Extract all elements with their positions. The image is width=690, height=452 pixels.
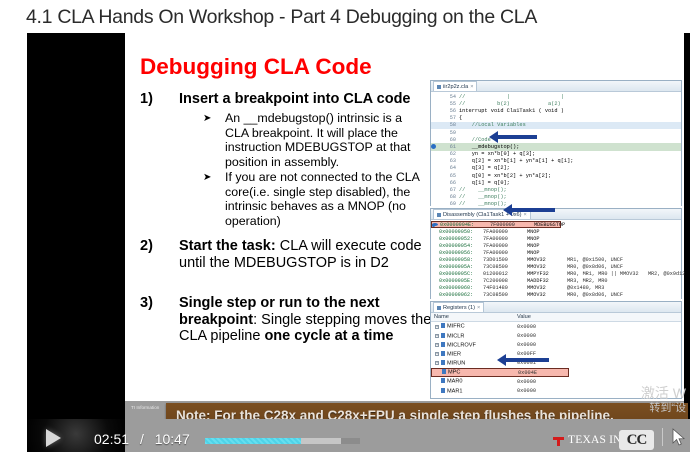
disassembly-opcode: 7FA00000 — [483, 236, 527, 242]
disassembly-tabbar: Disassembly (Cla1Task1 + 0x6)× — [431, 209, 681, 220]
disassembly-mnemonic: MNOP — [527, 250, 567, 256]
video-player-page: 4.1 CLA Hands On Workshop - Part 4 Debug… — [0, 0, 690, 452]
line-number: 64 — [439, 165, 459, 171]
disassembly-opcode: 73C08500 — [483, 292, 527, 298]
disassembly-opcode: 73C08500 — [483, 264, 527, 270]
disassembly-opcode: 7FA00000 — [483, 229, 527, 235]
register-icon — [441, 351, 445, 356]
disassembly-row[interactable]: 0x00009054:7FA00000MNOP — [431, 242, 681, 249]
editor-tab-label: iir2p2z.cla — [443, 84, 468, 90]
code-line[interactable]: 63 q[2] = xn*b[1] + yn*a[1] + q[1]; — [431, 158, 681, 165]
disassembly-mnemonic: MMPYF32 — [527, 271, 567, 277]
code-line[interactable]: 60 //Code — [431, 136, 681, 143]
code-line[interactable]: 57{ — [431, 115, 681, 122]
code-line[interactable]: 65 q[0] = xn*b[2] + yn*a[2]; — [431, 172, 681, 179]
register-name: MAR1 — [447, 388, 463, 394]
presentation-slide: Debugging CLA Code 1) Insert a breakpoin… — [125, 33, 684, 419]
disassembly-args: MR1, @0x1500, UNCF — [567, 257, 623, 263]
register-value[interactable]: 0x0000 — [517, 388, 571, 394]
disassembly-rows[interactable]: 0x0000904E:7F000000MDEBUGSTOP0x00009050:… — [431, 220, 681, 299]
disassembly-address: 0x00009050: — [431, 229, 483, 235]
watermark-line-1: 激活 W — [641, 385, 686, 401]
progress-played — [205, 438, 301, 444]
line-number: 61 — [439, 144, 459, 150]
line-number: 58 — [439, 122, 459, 128]
code-line[interactable]: 69// __mnop(); — [431, 201, 681, 208]
register-icon — [442, 369, 446, 374]
disassembly-row[interactable]: 0x0000905E:7C200008MADDF32MR3, MR2, MR0 — [431, 277, 681, 284]
register-value[interactable]: 0x0000 — [517, 333, 571, 339]
letterbox-left — [27, 33, 125, 419]
line-number: 54 — [439, 94, 459, 100]
disassembly-row[interactable]: 0x00009058:73D01500MMOV32MR1, @0x1500, U… — [431, 256, 681, 263]
register-name: MICLR — [447, 333, 464, 339]
time-display: 02:51 / 10:47 — [94, 431, 190, 447]
current-pc-marker-icon — [432, 223, 438, 226]
disassembly-opcode: 7FA00000 — [483, 243, 527, 249]
disassembly-args: MR3, MR2, MR0 — [567, 278, 607, 284]
list-marker-3: 3) — [140, 295, 153, 311]
registers-column-value: Value — [517, 314, 571, 320]
disassembly-mnemonic: MMOV32 — [527, 264, 567, 270]
line-number: 59 — [439, 130, 459, 136]
disassembly-row[interactable]: 0x00009050:7FA00000MNOP — [431, 228, 681, 235]
activation-watermark: 激活 W 转到“设 — [641, 385, 686, 415]
registers-header: Name Value — [431, 313, 681, 322]
register-row[interactable]: +MIER0x00FF — [431, 350, 681, 359]
code-text: //Code — [459, 137, 491, 143]
disassembly-args: @0x1480, MR3 — [567, 285, 604, 291]
disassembly-icon — [437, 213, 441, 217]
disassembly-args: MR0, @0x8d06, UNCF — [567, 292, 623, 298]
line-number: 55 — [439, 101, 459, 107]
code-line[interactable]: 61 __mdebugstop(); — [431, 143, 681, 150]
disassembly-args: MR0, @0x8d06, UNCF — [567, 264, 623, 270]
register-name-cell: MICLROVF — [431, 342, 517, 349]
disassembly-row[interactable]: 0x0000904E:7F000000MDEBUGSTOP — [431, 221, 561, 228]
breakpoint-icon[interactable] — [431, 144, 439, 150]
ti-information-label: TI Information — [131, 405, 159, 410]
disassembly-mnemonic: MDEBUGSTOP — [534, 222, 574, 228]
slide-heading: Debugging CLA Code — [140, 54, 372, 80]
play-button[interactable] — [46, 429, 61, 447]
code-text: q[0] = xn*b[2] + yn*a[2]; — [459, 173, 551, 179]
code-text: // __mnop(); — [459, 187, 507, 193]
line-number: 68 — [439, 194, 459, 200]
current-time: 02:51 — [94, 431, 129, 447]
line-number: 60 — [439, 137, 459, 143]
disassembly-address: 0x00009054: — [431, 243, 483, 249]
disassembly-mnemonic: MMOV32 — [527, 257, 567, 263]
register-name-cell: MAR1 — [431, 388, 517, 395]
register-name-cell: MICLR — [431, 333, 517, 340]
register-name: MIRUN — [447, 361, 465, 367]
code-text: q[3] = q[2]; — [459, 165, 510, 171]
disassembly-row[interactable]: 0x00009060:74F01480MMOV32@0x1480, MR3 — [431, 284, 681, 291]
code-editor-panel[interactable]: iir2p2z.cla× 54// | |55// b(2) a(2)56int… — [430, 80, 682, 206]
disassembly-mnemonic: MNOP — [527, 236, 567, 242]
ti-logo-icon-player — [553, 435, 564, 446]
disassembly-opcode: 01200012 — [483, 271, 527, 277]
disassembly-address: 0x0000905C: — [431, 271, 483, 277]
disassembly-row[interactable]: 0x00009056:7FA00000MNOP — [431, 249, 681, 256]
code-line[interactable]: 58 //Local Variables — [431, 122, 681, 129]
disassembly-row[interactable]: 0x0000905A:73C08500MMOV32MR0, @0x8d06, U… — [431, 263, 681, 270]
register-row[interactable]: +MICLR0x0000 — [431, 331, 681, 340]
close-icon[interactable]: × — [470, 84, 473, 90]
register-name-cell: MPC — [432, 369, 518, 376]
register-icon — [441, 388, 445, 393]
letterbox-outer-left — [0, 33, 27, 419]
code-line[interactable]: 56interrupt void Cla1Task1 ( void ) — [431, 107, 681, 114]
disassembly-address: 0x00009058: — [431, 257, 483, 263]
code-text: interrupt void Cla1Task1 ( void ) — [459, 108, 564, 114]
editor-tab-iir2p2z[interactable]: iir2p2z.cla× — [433, 81, 477, 91]
list-marker-1: 1) — [140, 91, 153, 107]
register-name: MAR0 — [447, 379, 463, 385]
line-number: 69 — [439, 201, 459, 207]
expand-icon[interactable]: + — [435, 361, 439, 365]
disassembly-opcode: 7FA00000 — [483, 250, 527, 256]
register-icon — [441, 323, 445, 328]
registers-tab-label: Registers (1) — [443, 305, 475, 311]
line-number: 62 — [439, 151, 459, 157]
register-name: MIFRC — [447, 324, 465, 330]
sub-bullet-icon-1: ➤ — [203, 113, 211, 124]
register-value[interactable]: 0x004E — [518, 370, 572, 376]
code-lines[interactable]: 54// | |55// b(2) a(2)56interrupt void C… — [431, 92, 681, 210]
sub-bullet-icon-2: ➤ — [203, 172, 211, 183]
editor-tabbar: iir2p2z.cla× — [431, 81, 681, 92]
close-icon[interactable]: × — [477, 305, 480, 311]
disassembly-mnemonic: MMOV32 — [527, 292, 567, 298]
line-number: 66 — [439, 180, 459, 186]
line-number: 63 — [439, 158, 459, 164]
code-line[interactable]: 68// __mnop(); — [431, 194, 681, 201]
code-line[interactable]: 55// b(2) a(2) — [431, 100, 681, 107]
letterbox-right — [684, 33, 690, 419]
line-number: 65 — [439, 173, 459, 179]
sub-item-1-text: An __mdebugstop() intrinsic is a CLA bre… — [225, 111, 421, 169]
register-value[interactable]: 0x0000 — [517, 324, 571, 330]
register-name: MIER — [447, 351, 461, 357]
disassembly-address: 0x00009052: — [431, 236, 483, 242]
code-line[interactable]: 62 yn = xn*b[0] + q[3]; — [431, 151, 681, 158]
video-frame[interactable]: Debugging CLA Code 1) Insert a breakpoin… — [0, 33, 690, 452]
disassembly-address: 0x00009060: — [431, 285, 483, 291]
disassembly-mnemonic: MMOV32 — [527, 285, 567, 291]
list-item-3-text: Single step or run to the next breakpoin… — [179, 295, 441, 345]
register-row[interactable]: +MIRUN0x0001 — [431, 359, 681, 368]
progress-bar[interactable] — [205, 438, 360, 444]
registers-column-name: Name — [431, 314, 517, 320]
code-line[interactable]: 64 q[3] = q[2]; — [431, 165, 681, 172]
disassembly-opcode: 73D01500 — [483, 257, 527, 263]
time-separator: / — [140, 431, 144, 447]
watermark-line-2: 转到“设 — [641, 401, 686, 415]
disassembly-address: 0x00009062: — [431, 292, 483, 298]
code-line[interactable]: 66 q[1] = q[0]; — [431, 179, 681, 186]
sub-item-2-text: If you are not connected to the CLA core… — [225, 170, 421, 228]
disassembly-mnemonic: MNOP — [527, 243, 567, 249]
register-name-cell: MAR0 — [431, 378, 517, 385]
register-value[interactable]: 0x0000 — [517, 342, 571, 348]
register-icon — [441, 333, 445, 338]
disassembly-row[interactable]: 0x0000905C:01200012MMPYF32MR0, MR1, MR0 … — [431, 270, 681, 277]
list-item-1-text: Insert a breakpoint into CLA code — [179, 91, 439, 108]
disassembly-opcode: 7C200008 — [483, 278, 527, 284]
code-text: { — [459, 115, 462, 121]
player-bar-left-pad — [0, 419, 27, 452]
registers-tab[interactable]: Registers (1)× — [433, 302, 484, 312]
closed-captions-button[interactable]: CC — [619, 430, 654, 450]
disassembly-address: 0x0000904E: — [438, 222, 490, 228]
disassembly-args: MR0, MR1, MR0 || MMOV32 MR2, @0x9d12 — [567, 271, 685, 277]
list-marker-2: 2) — [140, 238, 153, 254]
code-text: q[1] = q[0]; — [459, 180, 510, 186]
code-text: yn = xn*b[0] + q[3]; — [459, 151, 535, 157]
register-icon — [441, 342, 445, 347]
disassembly-address: 0x0000905A: — [431, 264, 483, 270]
code-text: // __mnop(); — [459, 194, 507, 200]
list-item-2-text: Start the task: CLA will execute code un… — [179, 238, 437, 271]
code-text: // b(2) a(2) — [459, 101, 561, 107]
disassembly-address: 0x0000905E: — [431, 278, 483, 284]
code-line[interactable]: 54// | | — [431, 93, 681, 100]
ide-screenshot: iir2p2z.cla× 54// | |55// b(2) a(2)56int… — [430, 80, 682, 401]
code-text: q[2] = xn*b[1] + yn*a[1] + q[1]; — [459, 158, 573, 164]
disassembly-row[interactable]: 0x00009052:7FA00000MNOP — [431, 235, 681, 242]
register-row[interactable]: MPC0x004E — [431, 368, 569, 377]
code-text: // | | — [459, 94, 564, 100]
page-title: 4.1 CLA Hands On Workshop - Part 4 Debug… — [26, 6, 537, 29]
code-text: //Local Variables — [459, 122, 526, 128]
register-value[interactable]: 0x0000 — [517, 379, 571, 385]
registers-icon — [437, 306, 441, 310]
disassembly-panel[interactable]: Disassembly (Cla1Task1 + 0x6)× 0x0000904… — [430, 208, 682, 299]
expand-icon[interactable]: + — [435, 343, 439, 347]
registers-tabbar: Registers (1)× — [431, 302, 681, 313]
register-name: MICLROVF — [447, 342, 476, 348]
c-file-icon — [437, 85, 441, 89]
register-row[interactable]: +MICLROVF0x0000 — [431, 340, 681, 349]
disassembly-mnemonic: MADDF32 — [527, 278, 567, 284]
disassembly-address: 0x00009056: — [431, 250, 483, 256]
player-divider — [662, 428, 663, 446]
close-icon[interactable]: × — [524, 212, 527, 218]
disassembly-opcode: 7F000000 — [490, 222, 534, 228]
register-row[interactable]: +MIFRC0x0000 — [431, 322, 681, 331]
register-name: MPC — [448, 370, 460, 376]
register-icon — [441, 360, 445, 365]
disassembly-mnemonic: MNOP — [527, 229, 567, 235]
disassembly-opcode: 74F01480 — [483, 285, 527, 291]
register-value[interactable]: 0x00FF — [517, 351, 571, 357]
list-item-2-lead: Start the task: — [179, 238, 276, 254]
register-name-cell: MIFRC — [431, 323, 517, 330]
code-text: __mdebugstop(); — [459, 144, 519, 150]
line-number: 57 — [439, 115, 459, 121]
expand-icon[interactable]: + — [435, 352, 439, 356]
duration: 10:47 — [155, 431, 190, 447]
code-text: // __mnop(); — [459, 201, 507, 207]
disassembly-row[interactable]: 0x00009062:73C08500MMOV32MR0, @0x8d06, U… — [431, 291, 681, 298]
register-icon — [441, 378, 445, 383]
code-line[interactable]: 67// __mnop(); — [431, 186, 681, 193]
line-number: 56 — [439, 108, 459, 114]
line-number: 67 — [439, 187, 459, 193]
list-item-3-tail: one cycle at a time — [264, 328, 393, 344]
expand-icon[interactable]: + — [435, 334, 439, 338]
expand-icon[interactable]: + — [435, 325, 439, 329]
code-line[interactable]: 59 — [431, 129, 681, 136]
